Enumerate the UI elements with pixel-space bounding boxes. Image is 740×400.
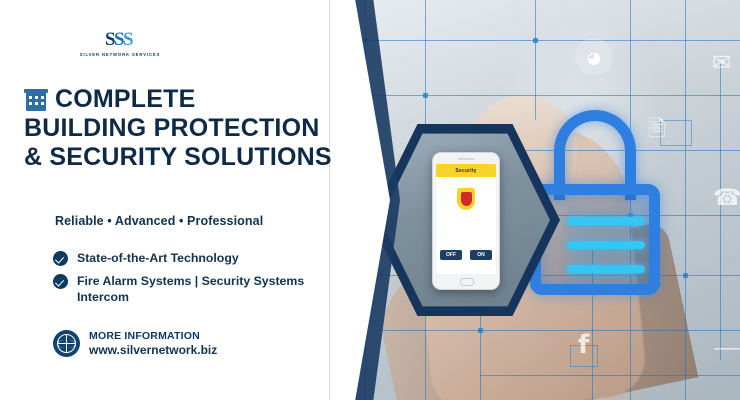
check-icon xyxy=(53,251,68,266)
list-item: Fire Alarm Systems | Security Systems In… xyxy=(53,273,328,305)
headline-line-3: & SECURITY SOLUTIONS xyxy=(24,143,324,172)
app-header: Security xyxy=(436,164,496,177)
phone-home-button xyxy=(460,278,474,286)
app-header-label: Security xyxy=(455,168,476,174)
smartphone-graphic: Security OFF ON xyxy=(432,152,500,290)
check-icon xyxy=(53,274,68,289)
page-title: COMPLETE BUILDING PROTECTION & SECURITY … xyxy=(24,85,324,172)
headline-line-2: BUILDING PROTECTION xyxy=(24,114,324,143)
feature-label-1: State-of-the-Art Technology xyxy=(77,250,239,266)
promo-banner: ◕ 🖹 ✉ ☎ f ⸺ Security xyxy=(0,0,740,400)
feature-list: State-of-the-Art Technology Fire Alarm S… xyxy=(53,250,328,312)
more-information[interactable]: MORE INFORMATION www.silvernetwork.biz xyxy=(53,330,217,357)
globe-icon xyxy=(53,330,80,357)
shield-inner xyxy=(461,192,472,206)
facebook-icon: f xyxy=(578,330,589,360)
padlock-bar-2 xyxy=(567,241,645,249)
more-info-title: MORE INFORMATION xyxy=(89,330,217,342)
twitter-icon: ⸺ xyxy=(713,330,740,362)
list-item: State-of-the-Art Technology xyxy=(53,250,328,266)
tagline: Reliable • Advanced • Professional xyxy=(55,214,263,228)
phone-speaker xyxy=(458,158,474,160)
wifi-icon: ◕ xyxy=(575,38,613,76)
padlock-bar-1 xyxy=(567,217,645,225)
logo-wordmark: SILVER NETWORK SERVICES xyxy=(80,52,161,57)
website-url[interactable]: www.silvernetwork.biz xyxy=(89,343,217,357)
company-logo: S S S SILVER NETWORK SERVICES xyxy=(60,26,180,60)
padlock-bar-3 xyxy=(567,265,645,273)
phone-icon: ☎ xyxy=(713,185,740,211)
logo-mark-icon: S S S xyxy=(105,30,135,50)
phone-screen: Security OFF ON xyxy=(436,164,496,274)
app-buttons: OFF ON xyxy=(440,250,492,260)
logo-letter-3: S xyxy=(123,30,134,49)
headline-line-1: COMPLETE xyxy=(55,85,196,114)
panel-divider xyxy=(329,0,330,400)
shield-icon xyxy=(457,188,475,210)
feature-label-2: Fire Alarm Systems | Security Systems In… xyxy=(77,273,328,305)
mail-icon: ✉ xyxy=(712,50,731,76)
hexagon-phone-card: Security OFF ON xyxy=(370,120,560,320)
app-on-button[interactable]: ON xyxy=(470,250,492,260)
building-icon xyxy=(24,88,48,112)
app-off-button[interactable]: OFF xyxy=(440,250,462,260)
